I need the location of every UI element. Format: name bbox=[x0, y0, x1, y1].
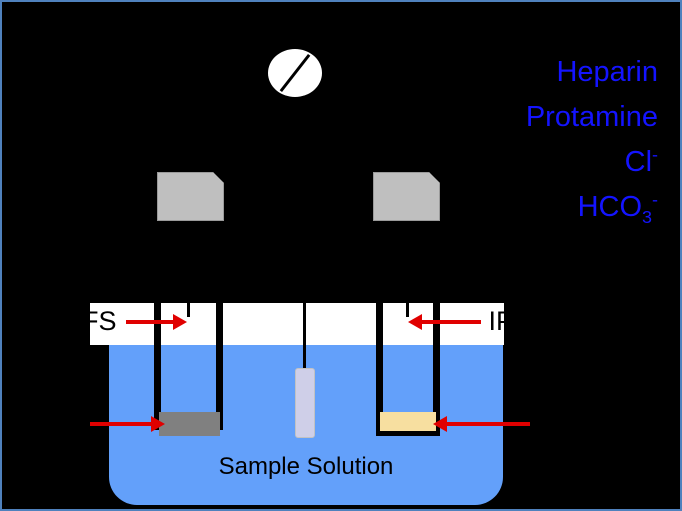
left-electrode-lead-stub bbox=[187, 303, 190, 317]
bicarbonate-subscript: 3 bbox=[642, 207, 652, 227]
arrow-membrane-right bbox=[446, 422, 530, 426]
lead-right-module-to-electrode bbox=[406, 221, 409, 305]
arrowhead-membrane-left bbox=[151, 416, 165, 432]
arrow-membrane-left bbox=[90, 422, 152, 426]
arrowhead-band-right bbox=[408, 314, 422, 330]
arrow-band-left bbox=[126, 320, 174, 324]
species-label-chloride: Cl- bbox=[526, 140, 658, 185]
chloride-charge: - bbox=[652, 144, 658, 164]
bicarbonate-charge: - bbox=[652, 189, 658, 209]
sample-solution-label: Sample Solution bbox=[109, 453, 503, 481]
lead-left-module-to-electrode bbox=[190, 221, 193, 305]
left-electrode-wall-outer-top bbox=[216, 303, 223, 345]
right-electrode-wall-outer-top bbox=[433, 303, 440, 345]
left-amplifier-module[interactable] bbox=[157, 172, 224, 221]
lead-meter-to-right-module bbox=[406, 121, 409, 172]
reference-electrode-wire-top bbox=[303, 303, 306, 345]
figure-canvas: Heparin Protamine Cl- HCO3- Sample Solut… bbox=[0, 0, 682, 511]
left-electrode-membrane bbox=[159, 412, 220, 436]
band-label-left: FS bbox=[90, 306, 117, 337]
arrowhead-band-left bbox=[173, 314, 187, 330]
species-label-protamine: Protamine bbox=[526, 95, 658, 140]
right-electrode-membrane bbox=[380, 412, 436, 431]
lead-meter-drop bbox=[294, 97, 297, 123]
head-band: FS IP bbox=[90, 303, 504, 345]
species-label-bicarbonate: HCO3- bbox=[526, 185, 658, 230]
lead-meter-bus bbox=[190, 121, 409, 124]
arrow-band-right bbox=[421, 320, 481, 324]
right-electrode-wall-inner-top bbox=[376, 303, 383, 345]
reference-electrode-frit bbox=[295, 368, 315, 438]
voltmeter-icon bbox=[268, 49, 322, 97]
left-electrode-wall-inner-top bbox=[154, 303, 161, 345]
right-amplifier-module[interactable] bbox=[373, 172, 440, 221]
arrowhead-membrane-right bbox=[433, 416, 447, 432]
lead-meter-to-left-module bbox=[190, 121, 193, 172]
species-label-heparin: Heparin bbox=[526, 50, 658, 95]
band-label-right: IP bbox=[488, 306, 504, 337]
species-label-list: Heparin Protamine Cl- HCO3- bbox=[526, 50, 658, 230]
